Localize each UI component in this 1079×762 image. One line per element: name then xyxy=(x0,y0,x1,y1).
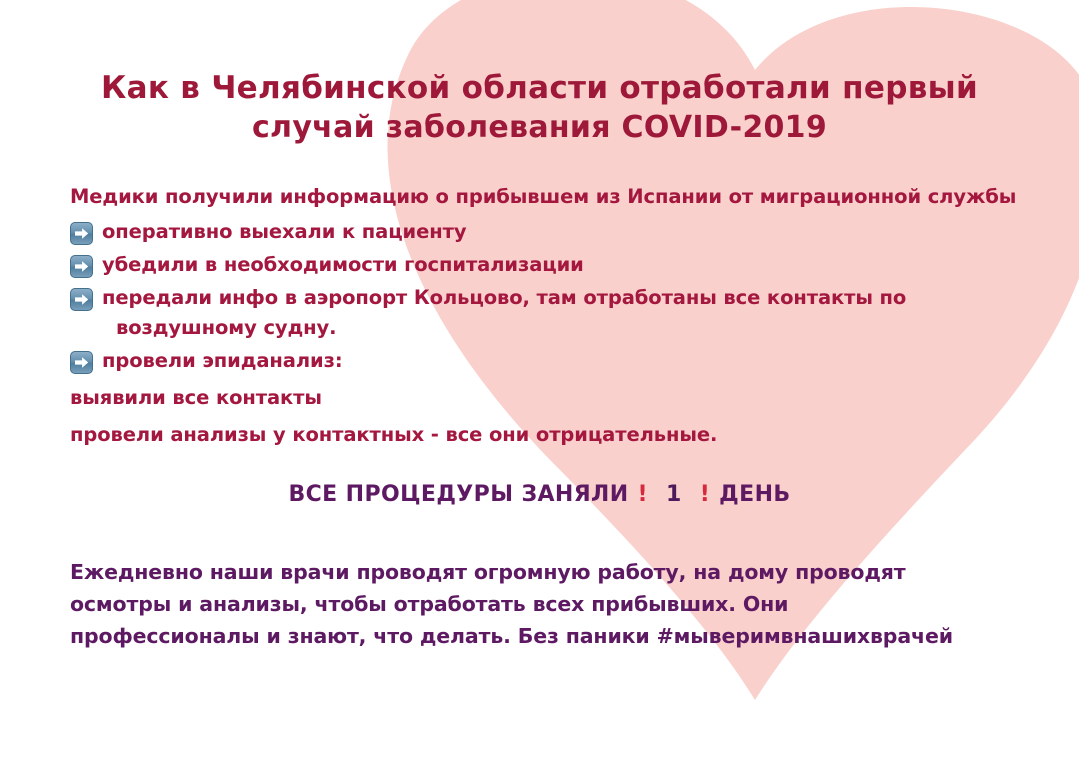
footer-line-3: профессионалы и знают, что делать. Без п… xyxy=(70,620,1030,652)
list-item: оперативно выехали к пациенту xyxy=(70,219,1030,245)
arrow-right-icon xyxy=(70,255,93,278)
arrow-right-icon xyxy=(70,351,93,374)
plain-line-2: провели анализы у контактных - все они о… xyxy=(70,422,1030,448)
title-line-2: случай заболевания COVID-2019 xyxy=(0,108,1079,148)
highlight-bang-right: ! xyxy=(700,482,710,507)
footer-line-2: осмотры и анализы, чтобы отработать всех… xyxy=(70,588,1030,620)
title-line-1: Как в Челябинской области отработали пер… xyxy=(0,68,1079,108)
list-item: передали инфо в аэропорт Кольцово, там о… xyxy=(70,285,1030,341)
list-item-label: убедили в необходимости госпитализации xyxy=(102,252,584,278)
poster-canvas: Как в Челябинской области отработали пер… xyxy=(0,0,1079,762)
list-item-continuation: воздушному судну. xyxy=(116,315,906,341)
plain-line-1: выявили все контакты xyxy=(70,385,1030,411)
lead-paragraph: Медики получили информацию о прибывшем и… xyxy=(70,182,1030,212)
highlight-number: 1 xyxy=(666,482,682,507)
arrow-right-icon xyxy=(70,288,93,311)
footer-line-1: Ежедневно наши врачи проводят огромную р… xyxy=(70,556,1030,588)
list-item-label: оперативно выехали к пациенту xyxy=(102,219,466,245)
highlight-prefix: ВСЕ ПРОЦЕДУРЫ ЗАНЯЛИ xyxy=(288,482,628,507)
highlight-suffix: ДЕНЬ xyxy=(719,482,790,507)
arrow-right-icon xyxy=(70,222,93,245)
highlight-bang-left: ! xyxy=(638,482,648,507)
poster-title: Как в Челябинской области отработали пер… xyxy=(0,68,1079,148)
highlight-statement: ВСЕ ПРОЦЕДУРЫ ЗАНЯЛИ!1!ДЕНЬ xyxy=(0,482,1079,507)
body-section: Медики получили информацию о прибывшем и… xyxy=(70,182,1030,448)
list-item-label: провели эпиданализ: xyxy=(102,348,343,374)
list-item-text: передали инфо в аэропорт Кольцово, там о… xyxy=(102,286,906,309)
footer-paragraph: Ежедневно наши врачи проводят огромную р… xyxy=(70,556,1030,652)
list-item-label: передали инфо в аэропорт Кольцово, там о… xyxy=(102,285,906,341)
list-item: убедили в необходимости госпитализации xyxy=(70,252,1030,278)
list-item: провели эпиданализ: xyxy=(70,348,1030,374)
